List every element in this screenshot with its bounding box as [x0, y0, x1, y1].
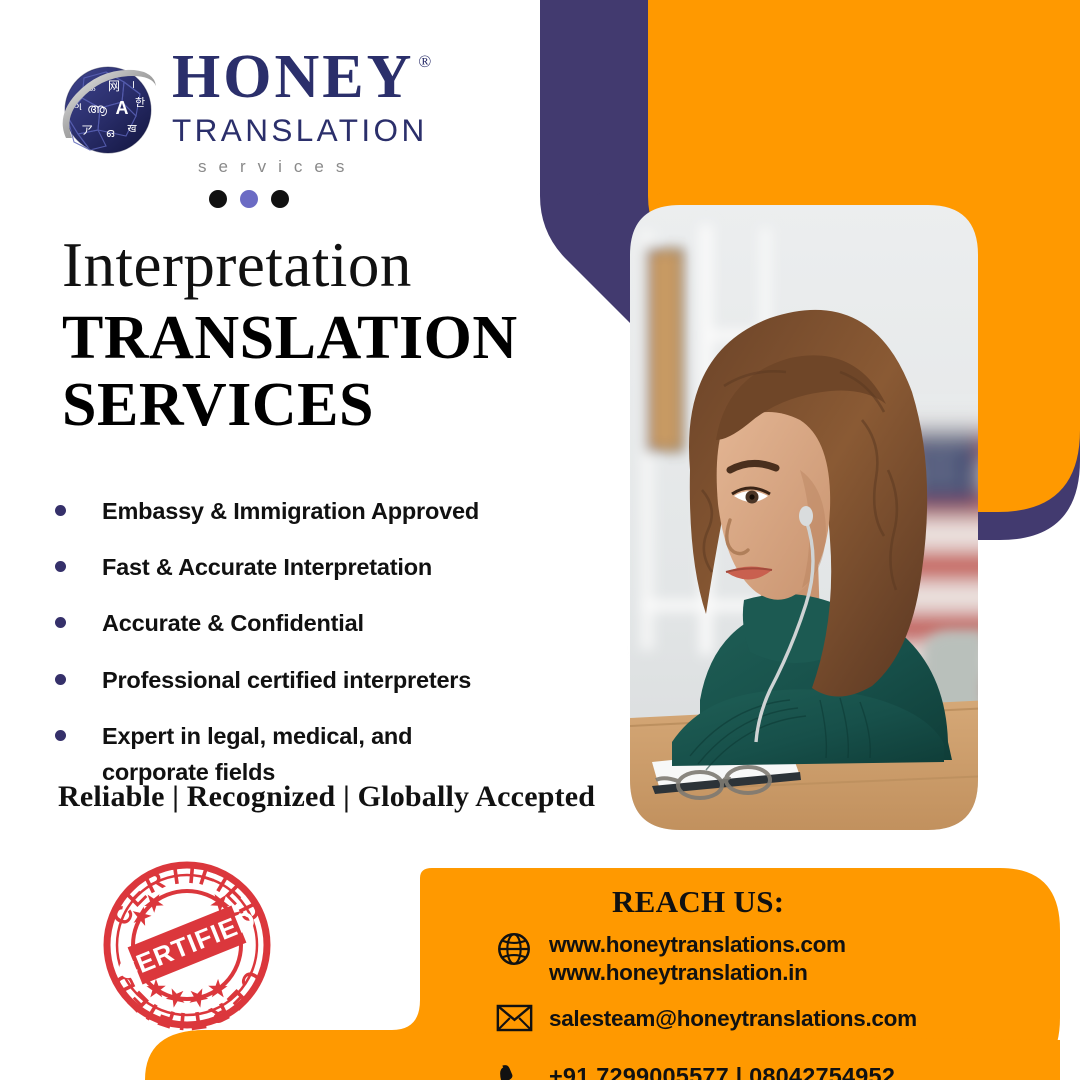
language-globe-icon: க 网 । ગ ആ A 한 ア ഒ ख	[52, 54, 164, 166]
bullet-dot-icon	[55, 617, 66, 628]
headline-bold-block: TRANSLATION SERVICES	[62, 305, 532, 439]
bullet-dot-icon	[55, 730, 66, 741]
contact-phone-text[interactable]: +91 7299005577 | 08042754952	[549, 1056, 895, 1080]
website-line-1[interactable]: www.honeytranslations.com	[549, 931, 846, 959]
registered-trademark-icon: ®	[418, 52, 431, 71]
contact-row-website[interactable]: www.honeytranslations.com www.honeytrans…	[493, 928, 1053, 987]
logo-wordmark-tertiary: services	[172, 158, 472, 175]
headline-bold-line-1: TRANSLATION	[62, 305, 532, 372]
certified-stamp-icon: CERTIFIED CERTIFIED CERTIFIED	[107, 861, 267, 1036]
dot-3	[271, 190, 289, 208]
poster-canvas: CERTIFIED CERTIFIED CERTIFIED	[0, 0, 1080, 1080]
svg-text:ഒ: ഒ	[106, 126, 115, 140]
svg-text:网: 网	[108, 79, 120, 93]
hero-photo	[630, 195, 1010, 840]
contact-email-text[interactable]: salesteam@honeytranslations.com	[549, 998, 917, 1033]
svg-text:ア: ア	[81, 123, 93, 137]
logo-wordmark-secondary: TRANSLATION	[172, 112, 472, 148]
svg-text:A: A	[116, 98, 129, 118]
list-item: Professional certified interpreters	[55, 663, 525, 699]
svg-text:ख: ख	[128, 123, 138, 135]
tagline: Reliable | Recognized | Globally Accepte…	[58, 780, 595, 814]
list-item: Accurate & Confidential	[55, 606, 525, 642]
envelope-icon	[493, 998, 535, 1045]
list-item-label: Accurate & Confidential	[102, 606, 364, 642]
bullet-dot-icon	[55, 505, 66, 516]
svg-text:ആ: ആ	[87, 101, 107, 116]
headline-script-line: Interpretation	[62, 234, 532, 297]
website-line-2[interactable]: www.honeytranslation.in	[549, 959, 846, 987]
contact-row-phone[interactable]: +91 7299005577 | 08042754952	[493, 1056, 1053, 1080]
globe-icon	[493, 928, 535, 972]
svg-text:।: ।	[131, 79, 135, 91]
logo-wordmark-primary: HONEY	[172, 46, 414, 108]
decorative-dots	[209, 190, 289, 208]
contact-row-email[interactable]: salesteam@honeytranslations.com	[493, 998, 1053, 1045]
contact-heading: REACH US:	[612, 884, 784, 920]
contact-website-text[interactable]: www.honeytranslations.com www.honeytrans…	[549, 928, 846, 987]
list-item: Embassy & Immigration Approved	[55, 494, 525, 530]
bullet-dot-icon	[55, 674, 66, 685]
dot-1	[209, 190, 227, 208]
bullet-dot-icon	[55, 561, 66, 572]
list-item-label: Professional certified interpreters	[102, 663, 471, 699]
phone-icon	[493, 1056, 535, 1080]
list-item-label: Fast & Accurate Interpretation	[102, 550, 432, 586]
list-item-label: Embassy & Immigration Approved	[102, 494, 479, 530]
feature-list: Embassy & Immigration Approved Fast & Ac…	[55, 494, 525, 811]
dot-2	[240, 190, 258, 208]
list-item: Fast & Accurate Interpretation	[55, 550, 525, 586]
contact-list: www.honeytranslations.com www.honeytrans…	[493, 928, 1053, 1080]
svg-text:한: 한	[135, 96, 145, 109]
headline-block: Interpretation TRANSLATION SERVICES	[62, 234, 532, 439]
headline-bold-line-2: SERVICES	[62, 372, 532, 439]
